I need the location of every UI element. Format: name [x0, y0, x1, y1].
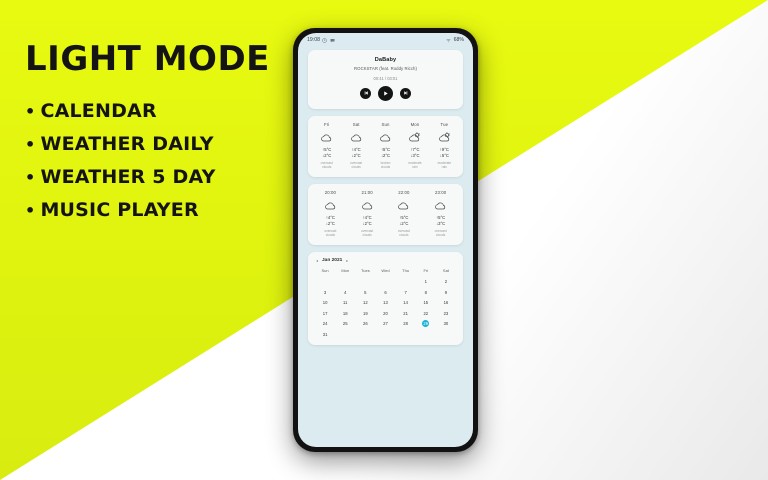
status-bar: 19:08 68%	[298, 33, 473, 47]
calendar-day[interactable]: 31	[315, 331, 335, 338]
calendar-day-of-week: Fri	[416, 268, 436, 273]
calendar-blank-cell	[315, 278, 335, 285]
cloud-icon	[350, 131, 363, 144]
calendar-blank-cell	[375, 278, 395, 285]
weather-temperature: ↑5°C↓2°C	[387, 215, 422, 227]
bullet-icon: •	[25, 201, 35, 220]
calendar-day[interactable]: 23	[436, 310, 456, 317]
temp-low: ↓2°C	[313, 153, 340, 159]
weather-temperature: ↑5°C↓3°C	[423, 215, 458, 227]
weather-column: Sun↑5°C↓2°Cbroken clouds	[371, 122, 400, 170]
calendar-day[interactable]: 22	[416, 310, 436, 317]
weather-temperature: ↑4°C↓2°C	[342, 147, 369, 159]
calendar-day-of-week: Thu	[396, 268, 416, 273]
calendar-day-of-week: Sun	[315, 268, 335, 273]
feature-item: •CALENDAR	[25, 100, 285, 122]
calendar-blank-cell	[355, 278, 375, 285]
calendar-widget[interactable]: ◂ Jan 2021 ▸ SunMonTuesWedThuFriSat12345…	[308, 252, 463, 345]
play-button[interactable]	[378, 86, 393, 101]
weather-period-label: 23:00	[423, 190, 458, 195]
calendar-day[interactable]: 28	[396, 320, 416, 327]
weather-temperature: ↑4°C↓2°C	[313, 215, 348, 227]
feature-list: •CALENDAR•WEATHER DAILY•WEATHER 5 DAY•MU…	[25, 100, 285, 221]
weather-period-label: Tue	[431, 122, 458, 127]
page-title: LIGHT MODE	[25, 42, 285, 76]
calendar-day[interactable]: 13	[375, 299, 395, 306]
cloud-icon	[324, 199, 337, 212]
feature-item: •WEATHER DAILY	[25, 133, 285, 155]
phone-mockup: 19:08 68% DaBaby ROCKSTAR (feat. Rodd	[293, 28, 478, 452]
temp-low: ↓2°C	[387, 221, 422, 227]
weather-period-label: 21:00	[350, 190, 385, 195]
weather-column: Sat↑4°C↓2°Covercast clouds	[341, 122, 370, 170]
calendar-day-today[interactable]: 29	[422, 320, 429, 327]
calendar-day[interactable]: 24	[315, 320, 335, 327]
wifi-icon	[446, 38, 451, 43]
status-bar-time: 19:08	[307, 37, 320, 43]
feature-label: WEATHER 5 DAY	[40, 166, 215, 188]
weather-period-label: Sun	[372, 122, 399, 127]
message-icon	[330, 38, 335, 43]
calendar-day[interactable]: 30	[436, 320, 456, 327]
temp-low: ↓2°C	[342, 153, 369, 159]
calendar-day[interactable]: 11	[335, 299, 355, 306]
battery-percentage: 68%	[454, 37, 464, 43]
calendar-header: ◂ Jan 2021 ▸	[315, 258, 456, 263]
weather-hourly-widget[interactable]: 20:00↑4°C↓2°Covercast clouds21:00↑4°C↓2°…	[308, 184, 463, 245]
temp-low: ↓3°C	[401, 153, 428, 159]
weather-description: overcast clouds	[342, 161, 369, 169]
temp-low: ↓5°C	[431, 153, 458, 159]
bullet-icon: •	[25, 102, 35, 121]
music-player-widget[interactable]: DaBaby ROCKSTAR (feat. Roddy Ricch) 00:4…	[308, 50, 463, 109]
weather-description: broken clouds	[372, 161, 399, 169]
weather-column: 21:00↑4°C↓2°Covercast clouds	[349, 190, 386, 238]
next-track-button[interactable]	[400, 88, 411, 99]
cloud-icon	[320, 131, 333, 144]
sun-cloud-icon	[438, 131, 451, 144]
calendar-grid: SunMonTuesWedThuFriSat123456789101112131…	[315, 268, 456, 338]
calendar-day[interactable]: 6	[375, 289, 395, 296]
weather-hourly-row: 20:00↑4°C↓2°Covercast clouds21:00↑4°C↓2°…	[312, 190, 459, 238]
weather-period-label: Fri	[313, 122, 340, 127]
feature-item: •WEATHER 5 DAY	[25, 166, 285, 188]
weather-column: Fri↑5°C↓2°Covercast clouds	[312, 122, 341, 170]
weather-description: overcast clouds	[423, 229, 458, 237]
cloud-icon	[379, 131, 392, 144]
calendar-blank-cell	[335, 278, 355, 285]
calendar-day[interactable]: 16	[436, 299, 456, 306]
calendar-day-of-week: Sat	[436, 268, 456, 273]
calendar-day[interactable]: 3	[315, 289, 335, 296]
weather-period-label: Mon	[401, 122, 428, 127]
temp-low: ↓2°C	[350, 221, 385, 227]
calendar-blank-cell	[396, 278, 416, 285]
weather-column: 23:00↑5°C↓3°Covercast clouds	[422, 190, 459, 238]
music-controls	[314, 86, 457, 101]
weather-temperature: ↑5°C↓2°C	[372, 147, 399, 159]
weather-description: overcast clouds	[313, 229, 348, 237]
calendar-day-of-week: Wed	[375, 268, 395, 273]
music-time-display: 00:41 / 03:01	[314, 76, 457, 81]
calendar-day[interactable]: 2	[436, 278, 456, 285]
temp-low: ↓3°C	[423, 221, 458, 227]
weather-column: 22:00↑5°C↓2°Covercast clouds	[386, 190, 423, 238]
bullet-icon: •	[25, 135, 35, 154]
weather-5day-row: Fri↑5°C↓2°Covercast cloudsSat↑4°C↓2°Cove…	[312, 122, 459, 170]
calendar-day[interactable]: 14	[396, 299, 416, 306]
widget-stack: DaBaby ROCKSTAR (feat. Roddy Ricch) 00:4…	[298, 47, 473, 447]
calendar-day[interactable]: 21	[396, 310, 416, 317]
promo-panel: LIGHT MODE •CALENDAR•WEATHER DAILY•WEATH…	[25, 42, 285, 232]
calendar-day[interactable]: 19	[355, 310, 375, 317]
next-month-button[interactable]: ▸	[346, 258, 348, 263]
calendar-day[interactable]: 5	[355, 289, 375, 296]
weather-period-label: 20:00	[313, 190, 348, 195]
cloud-icon	[361, 199, 374, 212]
phone-screen: 19:08 68% DaBaby ROCKSTAR (feat. Rodd	[298, 33, 473, 447]
calendar-day[interactable]: 7	[396, 289, 416, 296]
calendar-day[interactable]: 1	[416, 278, 436, 285]
weather-description: overcast clouds	[313, 161, 340, 169]
calendar-day[interactable]: 15	[416, 299, 436, 306]
weather-period-label: Sat	[342, 122, 369, 127]
temp-low: ↓2°C	[372, 153, 399, 159]
weather-column: 20:00↑4°C↓2°Covercast clouds	[312, 190, 349, 238]
calendar-day[interactable]: 25	[335, 320, 355, 327]
cloud-icon	[397, 199, 410, 212]
calendar-day[interactable]: 17	[315, 310, 335, 317]
weather-description: moderate rain	[431, 161, 458, 169]
weather-temperature: ↑9°C↓5°C	[431, 147, 458, 159]
calendar-day[interactable]: 20	[375, 310, 395, 317]
weather-description: overcast clouds	[350, 229, 385, 237]
feature-label: CALENDAR	[40, 100, 156, 122]
previous-track-button[interactable]	[360, 88, 371, 99]
bullet-icon: •	[25, 168, 35, 187]
calendar-day[interactable]: 10	[315, 299, 335, 306]
clock-icon	[322, 38, 327, 43]
weather-description: overcast clouds	[387, 229, 422, 237]
sun-cloud-icon	[408, 131, 421, 144]
weather-temperature: ↑4°C↓2°C	[350, 215, 385, 227]
calendar-day[interactable]: 12	[355, 299, 375, 306]
calendar-day[interactable]: 4	[335, 289, 355, 296]
weather-description: moderate rain	[401, 161, 428, 169]
music-track-artist: DaBaby	[314, 57, 457, 63]
weather-column: Tue↑9°C↓5°Cmoderate rain	[430, 122, 459, 170]
calendar-month-label: Jan 2021	[322, 258, 342, 263]
cloud-icon	[434, 199, 447, 212]
weather-period-label: 22:00	[387, 190, 422, 195]
temp-low: ↓2°C	[313, 221, 348, 227]
calendar-day[interactable]: 27	[375, 320, 395, 327]
weather-column: Mon↑7°C↓3°Cmoderate rain	[400, 122, 429, 170]
calendar-day[interactable]: 8	[416, 289, 436, 296]
calendar-day-of-week: Tues	[355, 268, 375, 273]
weather-temperature: ↑5°C↓2°C	[313, 147, 340, 159]
calendar-day[interactable]: 18	[335, 310, 355, 317]
calendar-day[interactable]: 26	[355, 320, 375, 327]
prev-month-button[interactable]: ◂	[316, 258, 318, 263]
feature-item: •MUSIC PLAYER	[25, 199, 285, 221]
music-track-title: ROCKSTAR (feat. Roddy Ricch)	[314, 66, 457, 71]
feature-label: MUSIC PLAYER	[40, 199, 198, 221]
calendar-day-of-week: Mon	[335, 268, 355, 273]
weather-5day-widget[interactable]: Fri↑5°C↓2°Covercast cloudsSat↑4°C↓2°Cove…	[308, 116, 463, 177]
calendar-day[interactable]: 9	[436, 289, 456, 296]
weather-temperature: ↑7°C↓3°C	[401, 147, 428, 159]
feature-label: WEATHER DAILY	[40, 133, 213, 155]
